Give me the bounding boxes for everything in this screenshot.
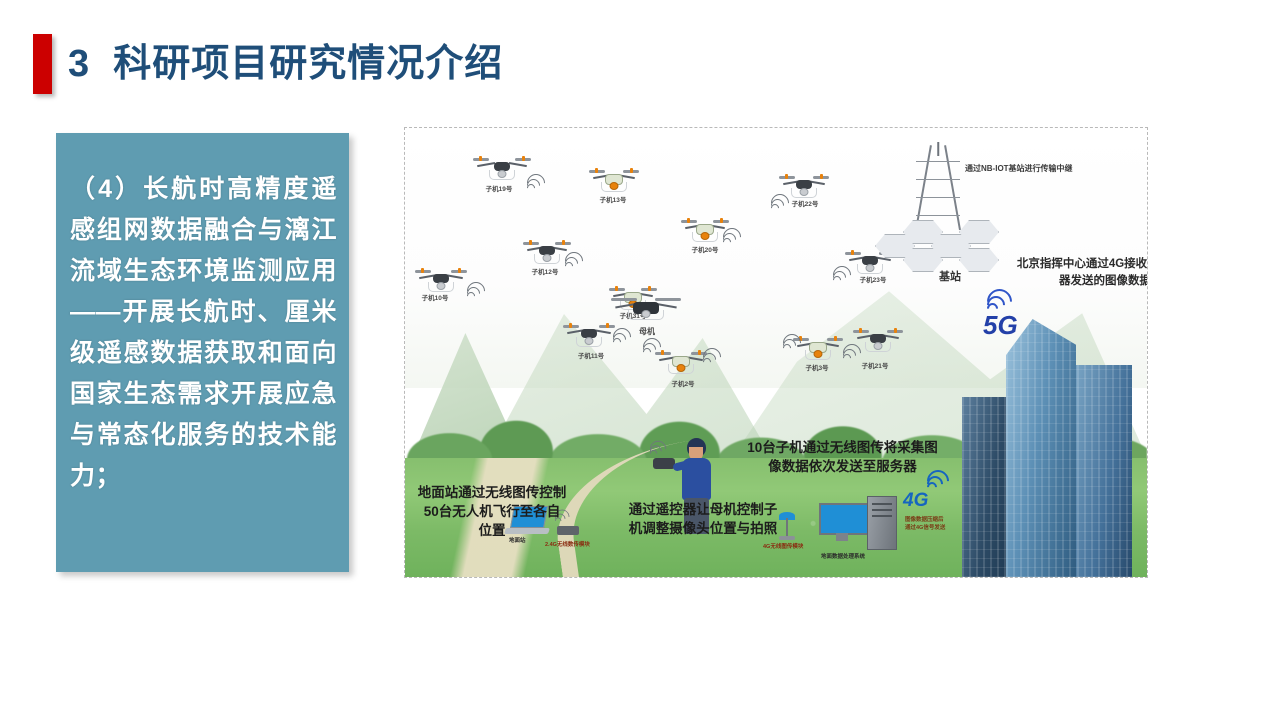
page-title: 3 科研项目研究情况介绍 (68, 36, 503, 92)
drone-icon (527, 240, 567, 262)
description-text: （4）长航时高精度遥感组网数据融合与漓江流域生态环境监测应用——开展长航时、厘米… (70, 169, 337, 497)
drone-label: 子机20号 (692, 244, 719, 254)
drone-label: 子机19号 (486, 183, 513, 193)
drone-icon (857, 328, 899, 350)
drone-label: 子机21号 (862, 360, 889, 370)
compress-note-label: 图像数据压缩后通过4G信号发送 (905, 516, 947, 532)
description-panel: （4）长航时高精度遥感组网数据融合与漓江流域生态环境监测应用——开展长航时、厘米… (56, 133, 349, 572)
signal-icon (703, 346, 723, 366)
drone-label: 子机11号 (578, 350, 604, 360)
drone-label: 子机13号 (600, 194, 627, 204)
drone-icon (797, 336, 839, 358)
drone-label: 子机12号 (532, 266, 559, 276)
mother-drone-icon (615, 296, 677, 326)
title-label: 科研项目研究情况介绍 (113, 43, 503, 85)
signal-icon (527, 172, 547, 192)
drone-icon (419, 268, 463, 292)
signal-icon (650, 439, 668, 457)
building-icon (1006, 319, 1076, 577)
system-architecture-diagram: 子机10号 子机19号 子机12号 子机13号 (404, 127, 1148, 578)
signal-icon (833, 264, 853, 284)
drone-icon (685, 218, 725, 240)
slide-header: 3 科研项目研究情况介绍 (0, 0, 1280, 120)
signal-icon (643, 336, 663, 356)
drone-label: 子机10号 (422, 292, 449, 302)
skyscrapers-image (950, 303, 1148, 577)
drone-label: 子机23号 (860, 274, 887, 284)
base-station-label: 基站 (910, 268, 990, 284)
title-accent-bar (33, 34, 52, 94)
wireless-module-label: 2.4G无线数传模块 (545, 540, 590, 548)
drone-icon (659, 350, 703, 374)
title-number: 3 (68, 43, 90, 85)
hex-cells-icon (875, 218, 1007, 274)
signal-icon (783, 332, 803, 352)
drone-icon (477, 156, 527, 182)
signal-icon (723, 226, 743, 246)
signal-icon (843, 342, 863, 362)
signal-icon (565, 250, 585, 270)
remote-controller-icon (653, 458, 675, 469)
building-icon (1070, 365, 1132, 577)
server-icon (867, 496, 897, 550)
slide-root: 3 科研项目研究情况介绍 （4）长航时高精度遥感组网数据融合与漓江流域生态环境监… (0, 0, 1280, 720)
image-module-label: 4G无线图传模块 (763, 542, 803, 550)
ground-station-callout: 地面站通过无线图传控制50台无人机飞行至各自位置 (417, 483, 567, 540)
four-g-label: 4G (903, 490, 928, 512)
base-station-note: 通过NB-IOT基站进行传输中继 (965, 162, 1125, 175)
signal-icon (771, 192, 791, 212)
signal-icon (467, 280, 487, 300)
image-transfer-callout: 10台子机通过无线图传将采集图像数据依次发送至服务器 (745, 438, 940, 476)
drone-label: 子机22号 (792, 198, 819, 208)
drone-icon (593, 168, 635, 190)
remote-control-callout: 通过遥控器让母机控制子机调整摄像头位置与拍照 (623, 500, 783, 538)
signal-icon (613, 326, 633, 346)
monitor-icon (819, 503, 865, 541)
command-center-note: 北京指挥中心通过4G接收桂林服务器发送的图像数据 (1015, 256, 1148, 290)
drone-icon (567, 323, 611, 347)
drone-label: 子机2号 (671, 378, 694, 388)
data-system-label: 地面数据处理系统 (821, 552, 865, 560)
drone-label: 子机3号 (805, 362, 828, 372)
